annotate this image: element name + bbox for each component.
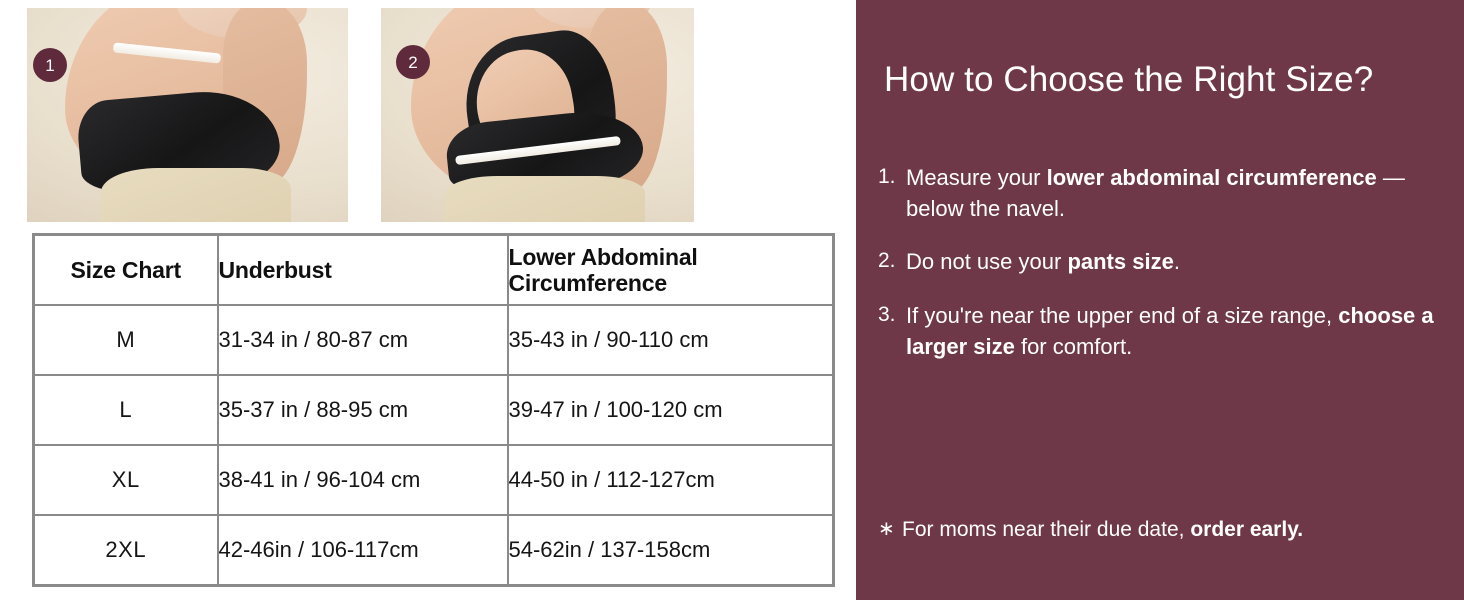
column-header-lower-abdominal: Lower Abdominal Circumference bbox=[508, 235, 834, 306]
cell-lower-abdominal: 54-62in / 137-158cm bbox=[508, 515, 834, 586]
step-text-emphasis: pants size bbox=[1067, 249, 1173, 274]
step-text-prefix: Measure your bbox=[906, 165, 1047, 190]
step-text-suffix: . bbox=[1174, 249, 1180, 274]
cell-underbust: 31-34 in / 80-87 cm bbox=[218, 305, 508, 375]
step-text: If you're near the upper end of a size r… bbox=[906, 300, 1450, 362]
step-text-suffix: for comfort. bbox=[1015, 334, 1132, 359]
step-text-prefix: Do not use your bbox=[906, 249, 1067, 274]
step-text: Measure your lower abdominal circumferen… bbox=[906, 162, 1450, 224]
cell-lower-abdominal: 44-50 in / 112-127cm bbox=[508, 445, 834, 515]
size-chart-table: Size Chart Underbust Lower Abdominal Cir… bbox=[32, 233, 835, 587]
step-number: 2. bbox=[878, 246, 906, 276]
table-row: XL 38-41 in / 96-104 cm 44-50 in / 112-1… bbox=[34, 445, 834, 515]
size-guide-page: 1 2 Size Chart Underbu bbox=[0, 0, 1464, 600]
left-content-pane: 1 2 Size Chart Underbu bbox=[0, 0, 856, 600]
column-header-size: Size Chart bbox=[34, 235, 218, 306]
column-header-underbust: Underbust bbox=[218, 235, 508, 306]
table-header-row: Size Chart Underbust Lower Abdominal Cir… bbox=[34, 235, 834, 306]
table-row: 2XL 42-46in / 106-117cm 54-62in / 137-15… bbox=[34, 515, 834, 586]
column-header-line-2: Circumference bbox=[509, 270, 667, 296]
table-row: M 31-34 in / 80-87 cm 35-43 in / 90-110 … bbox=[34, 305, 834, 375]
cell-lower-abdominal: 35-43 in / 90-110 cm bbox=[508, 305, 834, 375]
instruction-step-3: 3. If you're near the upper end of a siz… bbox=[878, 300, 1450, 362]
photo-step-badge-1: 1 bbox=[33, 48, 67, 82]
instruction-list: 1. Measure your lower abdominal circumfe… bbox=[878, 162, 1450, 384]
footnote-prefix: For moms near their due date, bbox=[902, 518, 1190, 541]
step-text: Do not use your pants size. bbox=[906, 246, 1450, 277]
photo-legging-shape bbox=[101, 168, 291, 222]
instruction-photo-1: 1 bbox=[27, 8, 348, 222]
cell-size: 2XL bbox=[34, 515, 218, 586]
step-number: 1. bbox=[878, 162, 906, 192]
cell-lower-abdominal: 39-47 in / 100-120 cm bbox=[508, 375, 834, 445]
cell-underbust: 42-46in / 106-117cm bbox=[218, 515, 508, 586]
footnote: ∗ For moms near their due date, order ea… bbox=[878, 515, 1458, 544]
asterisk-icon: ∗ bbox=[878, 515, 902, 543]
cell-size: M bbox=[34, 305, 218, 375]
photo-legging-shape bbox=[445, 176, 645, 222]
table-row: L 35-37 in / 88-95 cm 39-47 in / 100-120… bbox=[34, 375, 834, 445]
cell-size: XL bbox=[34, 445, 218, 515]
step-number: 3. bbox=[878, 300, 906, 330]
cell-underbust: 38-41 in / 96-104 cm bbox=[218, 445, 508, 515]
instruction-photo-2: 2 bbox=[381, 8, 694, 222]
step-text-emphasis: lower abdominal circumference bbox=[1047, 165, 1377, 190]
cell-underbust: 35-37 in / 88-95 cm bbox=[218, 375, 508, 445]
step-text-prefix: If you're near the upper end of a size r… bbox=[906, 303, 1338, 328]
cell-size: L bbox=[34, 375, 218, 445]
photo-step-badge-2: 2 bbox=[396, 45, 430, 79]
how-to-choose-panel: How to Choose the Right Size? 1. Measure… bbox=[856, 0, 1464, 600]
panel-title: How to Choose the Right Size? bbox=[884, 60, 1444, 100]
footnote-emphasis: order early. bbox=[1190, 518, 1303, 541]
table-header: Size Chart Underbust Lower Abdominal Cir… bbox=[34, 235, 834, 306]
instruction-step-2: 2. Do not use your pants size. bbox=[878, 246, 1450, 277]
table-body: M 31-34 in / 80-87 cm 35-43 in / 90-110 … bbox=[34, 305, 834, 586]
column-header-line-1: Lower Abdominal bbox=[509, 244, 698, 270]
instruction-step-1: 1. Measure your lower abdominal circumfe… bbox=[878, 162, 1450, 224]
footnote-text: For moms near their due date, order earl… bbox=[902, 515, 1303, 544]
